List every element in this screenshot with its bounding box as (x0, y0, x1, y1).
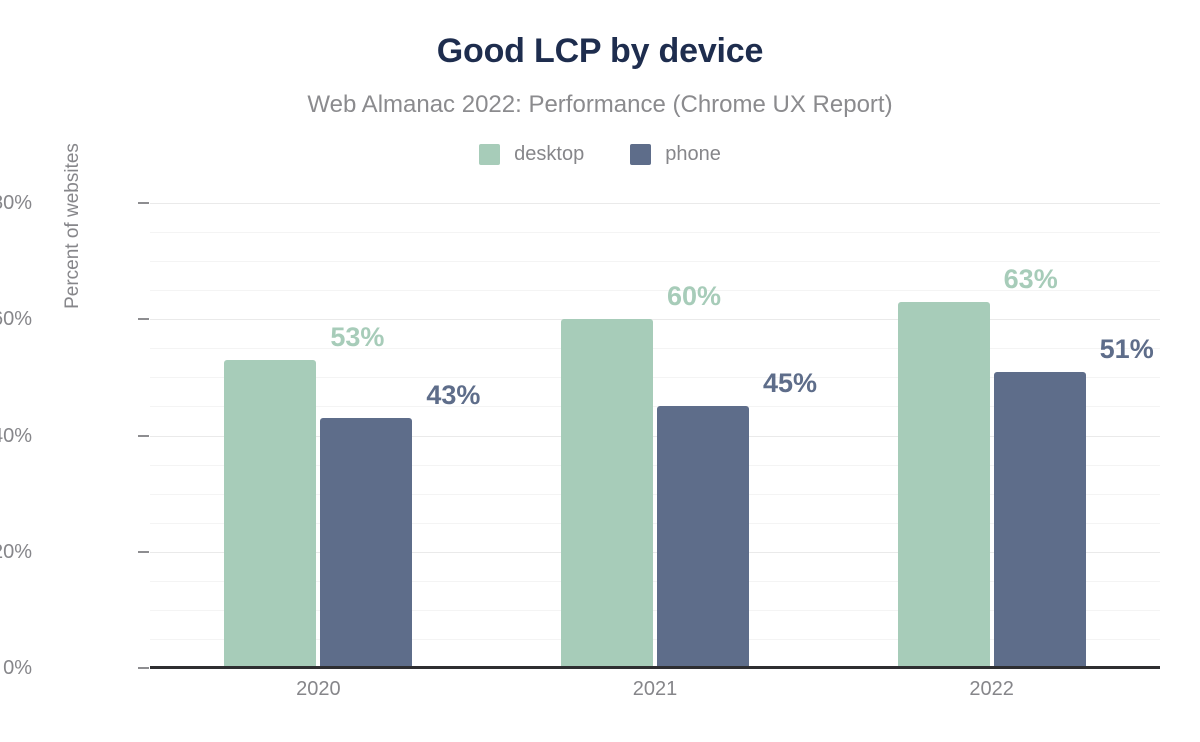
gridline (150, 348, 1160, 349)
gridline (150, 319, 1160, 320)
legend-item-label: desktop (514, 142, 584, 166)
bar-value-label: 45% (763, 368, 817, 398)
x-axis-line (150, 666, 1160, 669)
bar-desktop-2022[interactable] (898, 302, 990, 668)
bar-value-label: 63% (1004, 264, 1058, 294)
y-axis-tick-mark (138, 202, 149, 204)
legend-item-phone[interactable]: phone (630, 142, 721, 166)
gridline (150, 203, 1160, 204)
legend-item-label: phone (665, 142, 721, 166)
bar-phone-2021[interactable] (657, 406, 749, 668)
gridline (150, 261, 1160, 262)
x-axis-tick-label: 2020 (258, 676, 378, 702)
chart-title: Good LCP by device (0, 30, 1200, 72)
x-axis-tick-label: 2021 (595, 676, 715, 702)
y-axis-tick-label: 80% (0, 193, 32, 213)
y-axis-tick-mark (138, 551, 149, 553)
bar-value-label: 51% (1100, 334, 1154, 364)
bar-desktop-2021[interactable] (561, 319, 653, 668)
y-axis-tick-label: 40% (0, 426, 32, 446)
y-axis-tick-label: 0% (0, 658, 32, 678)
legend-swatch-icon (630, 144, 651, 165)
bar-phone-2020[interactable] (320, 418, 412, 668)
y-axis-tick-mark (138, 435, 149, 437)
y-axis-tick-mark (138, 667, 149, 669)
chart-subtitle: Web Almanac 2022: Performance (Chrome UX… (0, 90, 1200, 120)
y-axis-title: Percent of websites (62, 101, 84, 351)
bar-phone-2022[interactable] (994, 372, 1086, 668)
chart-container: Good LCP by device Web Almanac 2022: Per… (0, 0, 1200, 742)
y-axis-tick-mark (138, 318, 149, 320)
plot-area: 53%43%60%45%63%51% (150, 203, 1160, 668)
bar-value-label: 43% (426, 380, 480, 410)
bar-value-label: 60% (667, 281, 721, 311)
y-axis-tick-label: 20% (0, 542, 32, 562)
legend-swatch-icon (479, 144, 500, 165)
bar-value-label: 53% (330, 322, 384, 352)
chart-legend: desktop phone (0, 142, 1200, 166)
y-axis-tick-label: 60% (0, 309, 32, 329)
x-axis-tick-label: 2022 (932, 676, 1052, 702)
bar-desktop-2020[interactable] (224, 360, 316, 668)
gridline (150, 232, 1160, 233)
legend-item-desktop[interactable]: desktop (479, 142, 584, 166)
